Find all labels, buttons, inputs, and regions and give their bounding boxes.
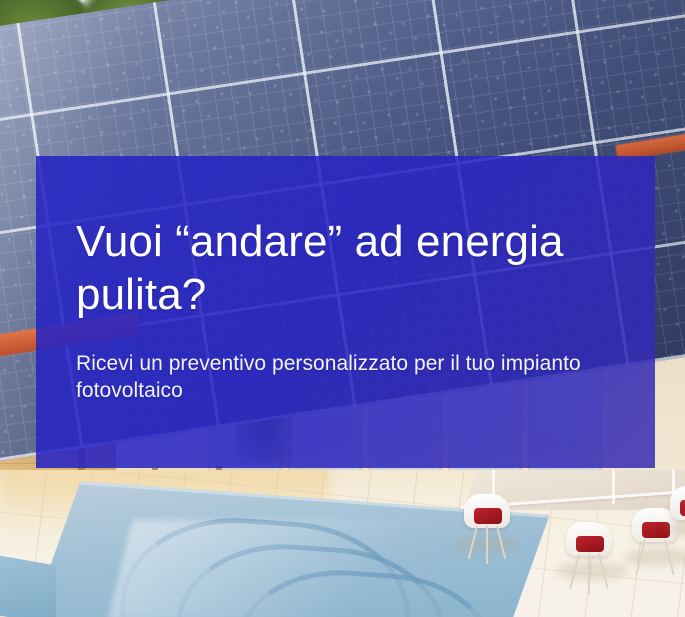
hero-overlay-panel: Vuoi “andare” ad energia pulita? Ricevi …	[36, 156, 655, 468]
hero-subheadline: Ricevi un preventivo personalizzato per …	[76, 350, 606, 404]
chair-shadow	[556, 562, 628, 580]
chair-cushion	[642, 522, 670, 538]
chair-leg	[486, 526, 488, 564]
hero-headline: Vuoi “andare” ad energia pulita?	[76, 215, 616, 321]
chair-cushion	[576, 536, 604, 552]
pool-edge	[0, 555, 56, 617]
hero-banner: Vuoi “andare” ad energia pulita? Ricevi …	[0, 0, 685, 617]
chair-leg	[588, 554, 590, 594]
chair-shadow	[624, 548, 685, 566]
terrace-rail-post	[612, 470, 615, 504]
chair-cushion	[680, 500, 685, 516]
chair-cushion	[474, 508, 502, 524]
